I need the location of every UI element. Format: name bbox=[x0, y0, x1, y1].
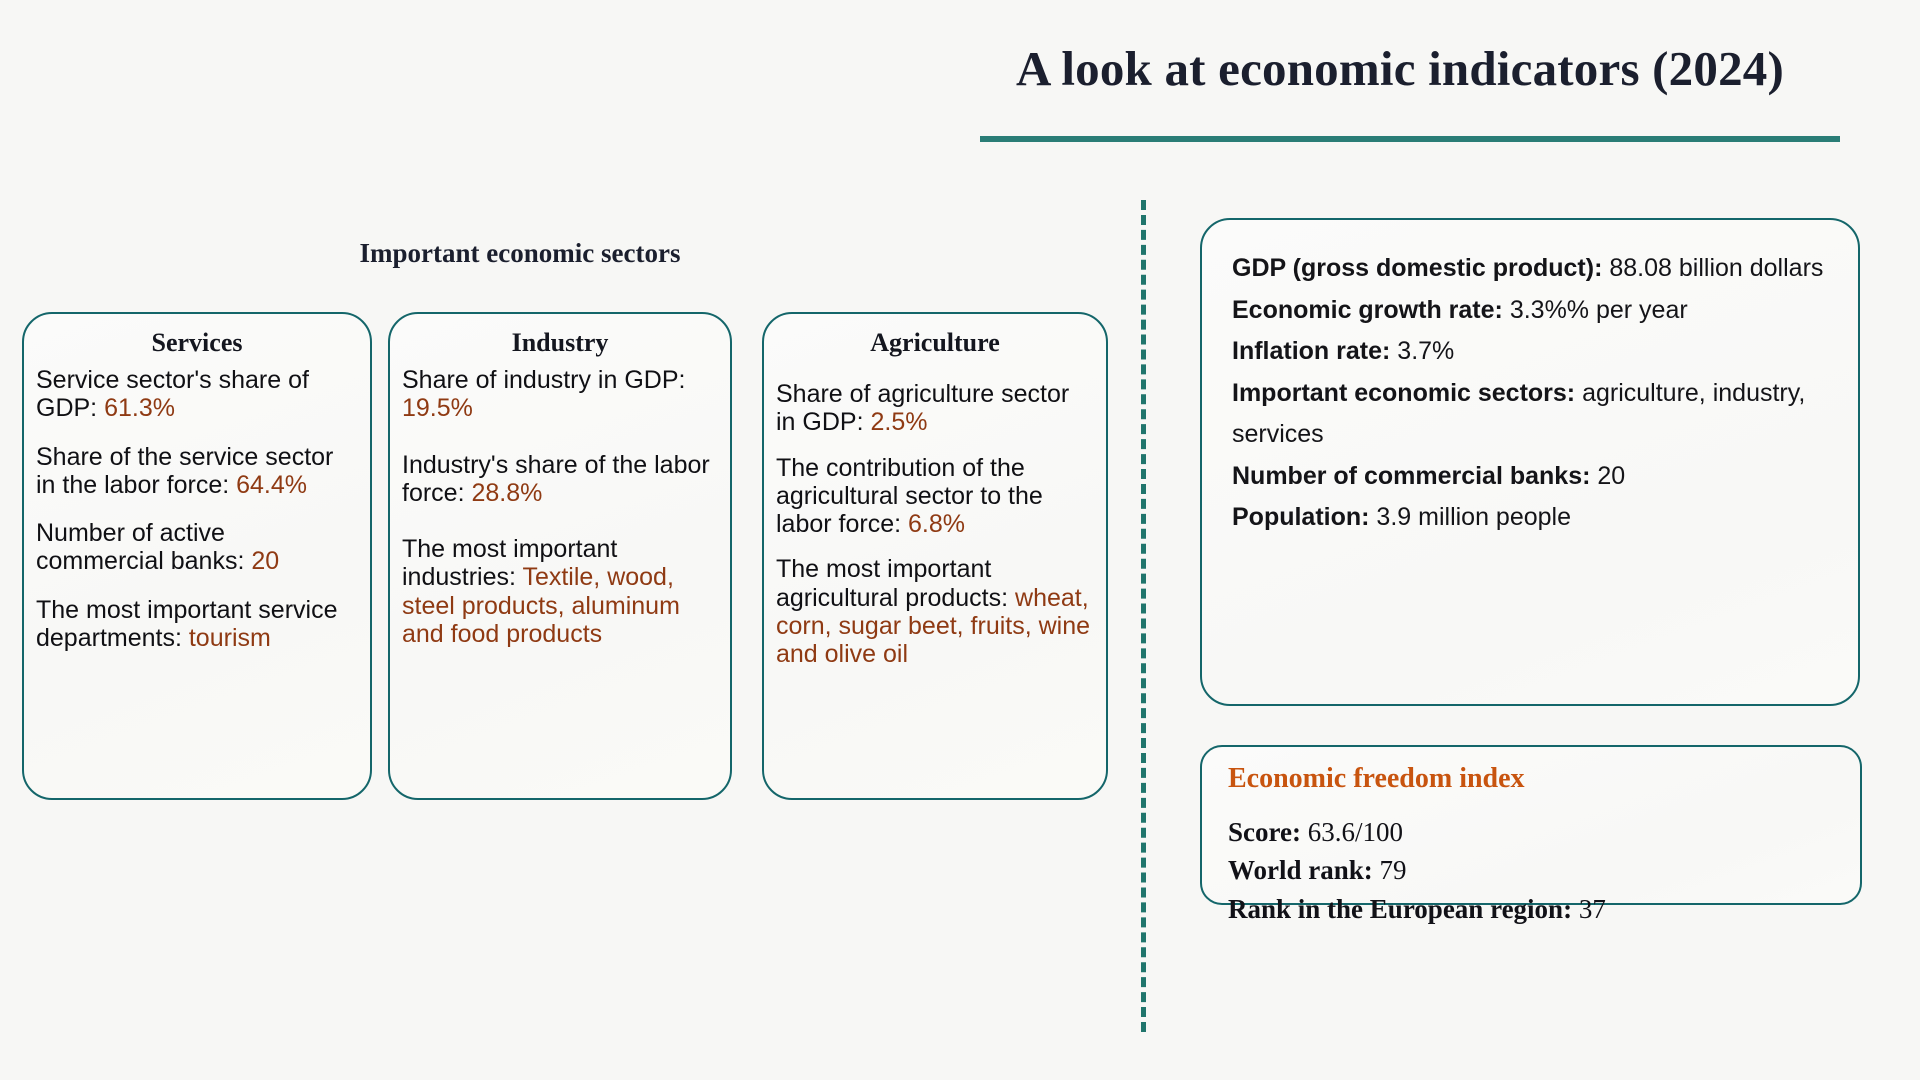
sector-line: Industry's share of the labor force: 28.… bbox=[402, 451, 718, 508]
title-underline-rule bbox=[980, 136, 1840, 142]
freedom-index-value: 79 bbox=[1373, 855, 1407, 885]
sector-card-title: Industry bbox=[402, 328, 718, 358]
sector-line-value: tourism bbox=[189, 624, 271, 652]
sector-card-body: Share of agriculture sector in GDP: 2.5%… bbox=[776, 366, 1094, 668]
freedom-index-label: Rank in the European region: bbox=[1228, 894, 1572, 924]
sector-line: The most important agricultural products… bbox=[776, 555, 1094, 668]
freedom-index-row: Rank in the European region: 37 bbox=[1228, 890, 1834, 928]
sector-line-label: Share of industry in GDP: bbox=[402, 366, 685, 394]
sector-line-label: Industry's share of the labor force: bbox=[402, 451, 710, 507]
sector-line-value: 64.4% bbox=[236, 471, 307, 499]
indicator-row: Inflation rate: 3.7% bbox=[1232, 331, 1828, 373]
sector-line: The most important industries: Textile, … bbox=[402, 535, 718, 648]
sector-card-body: Share of industry in GDP: 19.5% Industry… bbox=[402, 366, 718, 648]
indicator-row: Population: 3.9 million people bbox=[1232, 497, 1828, 539]
indicator-row: Important economic sectors: agriculture,… bbox=[1232, 373, 1828, 456]
sector-line-value: 61.3% bbox=[104, 394, 175, 422]
indicator-label: Economic growth rate: bbox=[1232, 296, 1503, 324]
economic-freedom-index-panel: Economic freedom index Score: 63.6/100 W… bbox=[1200, 745, 1862, 905]
sector-line: Share of agriculture sector in GDP: 2.5% bbox=[776, 380, 1094, 437]
sector-line-label: The most important agricultural products… bbox=[776, 555, 1015, 611]
sector-line-value: 6.8% bbox=[908, 510, 965, 538]
indicator-row: Number of commercial banks: 20 bbox=[1232, 456, 1828, 498]
sector-line-value: 28.8% bbox=[471, 479, 542, 507]
sector-line-label: The most important service departments: bbox=[36, 596, 338, 652]
indicator-row: Economic growth rate: 3.3%% per year bbox=[1232, 290, 1828, 332]
sector-line: Share of the service sector in the labor… bbox=[36, 443, 358, 500]
indicator-label: Population: bbox=[1232, 503, 1369, 531]
indicator-value: 20 bbox=[1590, 462, 1625, 490]
economic-freedom-index-title: Economic freedom index bbox=[1228, 763, 1834, 795]
sector-card-title: Agriculture bbox=[776, 328, 1094, 358]
sector-line: Service sector's share of GDP: 61.3% bbox=[36, 366, 358, 423]
sector-line: The contribution of the agricultural sec… bbox=[776, 454, 1094, 539]
freedom-index-row: Score: 63.6/100 bbox=[1228, 813, 1834, 851]
freedom-index-label: Score: bbox=[1228, 817, 1301, 847]
page-title: A look at economic indicators (2024) bbox=[960, 40, 1840, 97]
indicator-label: GDP (gross domestic product): bbox=[1232, 254, 1602, 282]
sector-line: The most important service departments: … bbox=[36, 596, 358, 653]
sector-card-title: Services bbox=[36, 328, 358, 358]
freedom-index-value: 37 bbox=[1572, 894, 1606, 924]
key-indicators-panel: GDP (gross domestic product): 88.08 bill… bbox=[1200, 218, 1860, 706]
sector-card-agriculture: Agriculture Share of agriculture sector … bbox=[762, 312, 1108, 800]
indicator-row: GDP (gross domestic product): 88.08 bill… bbox=[1232, 248, 1828, 290]
indicator-label: Number of commercial banks: bbox=[1232, 462, 1590, 490]
freedom-index-row: World rank: 79 bbox=[1228, 851, 1834, 889]
indicator-label: Inflation rate: bbox=[1232, 337, 1390, 365]
indicator-value: 3.9 million people bbox=[1369, 503, 1571, 531]
indicator-label: Important economic sectors: bbox=[1232, 379, 1575, 407]
sector-line: Share of industry in GDP: 19.5% bbox=[402, 366, 718, 423]
vertical-dashed-divider bbox=[1141, 200, 1146, 1032]
indicator-value: 3.7% bbox=[1390, 337, 1454, 365]
sector-line-value: 19.5% bbox=[402, 394, 473, 422]
sector-line-value: 20 bbox=[251, 547, 279, 575]
sector-card-services: Services Service sector's share of GDP: … bbox=[22, 312, 372, 800]
sector-line: Number of active commercial banks: 20 bbox=[36, 519, 358, 576]
sector-line-label: Number of active commercial banks: bbox=[36, 519, 251, 575]
sectors-section-heading: Important economic sectors bbox=[120, 238, 920, 269]
indicator-value: 3.3%% per year bbox=[1503, 296, 1688, 324]
sector-line-value: 2.5% bbox=[870, 408, 927, 436]
freedom-index-label: World rank: bbox=[1228, 855, 1373, 885]
sector-card-industry: Industry Share of industry in GDP: 19.5%… bbox=[388, 312, 732, 800]
freedom-index-value: 63.6/100 bbox=[1301, 817, 1403, 847]
sector-card-body: Service sector's share of GDP: 61.3% Sha… bbox=[36, 366, 358, 652]
indicator-value: 88.08 billion dollars bbox=[1602, 254, 1823, 282]
